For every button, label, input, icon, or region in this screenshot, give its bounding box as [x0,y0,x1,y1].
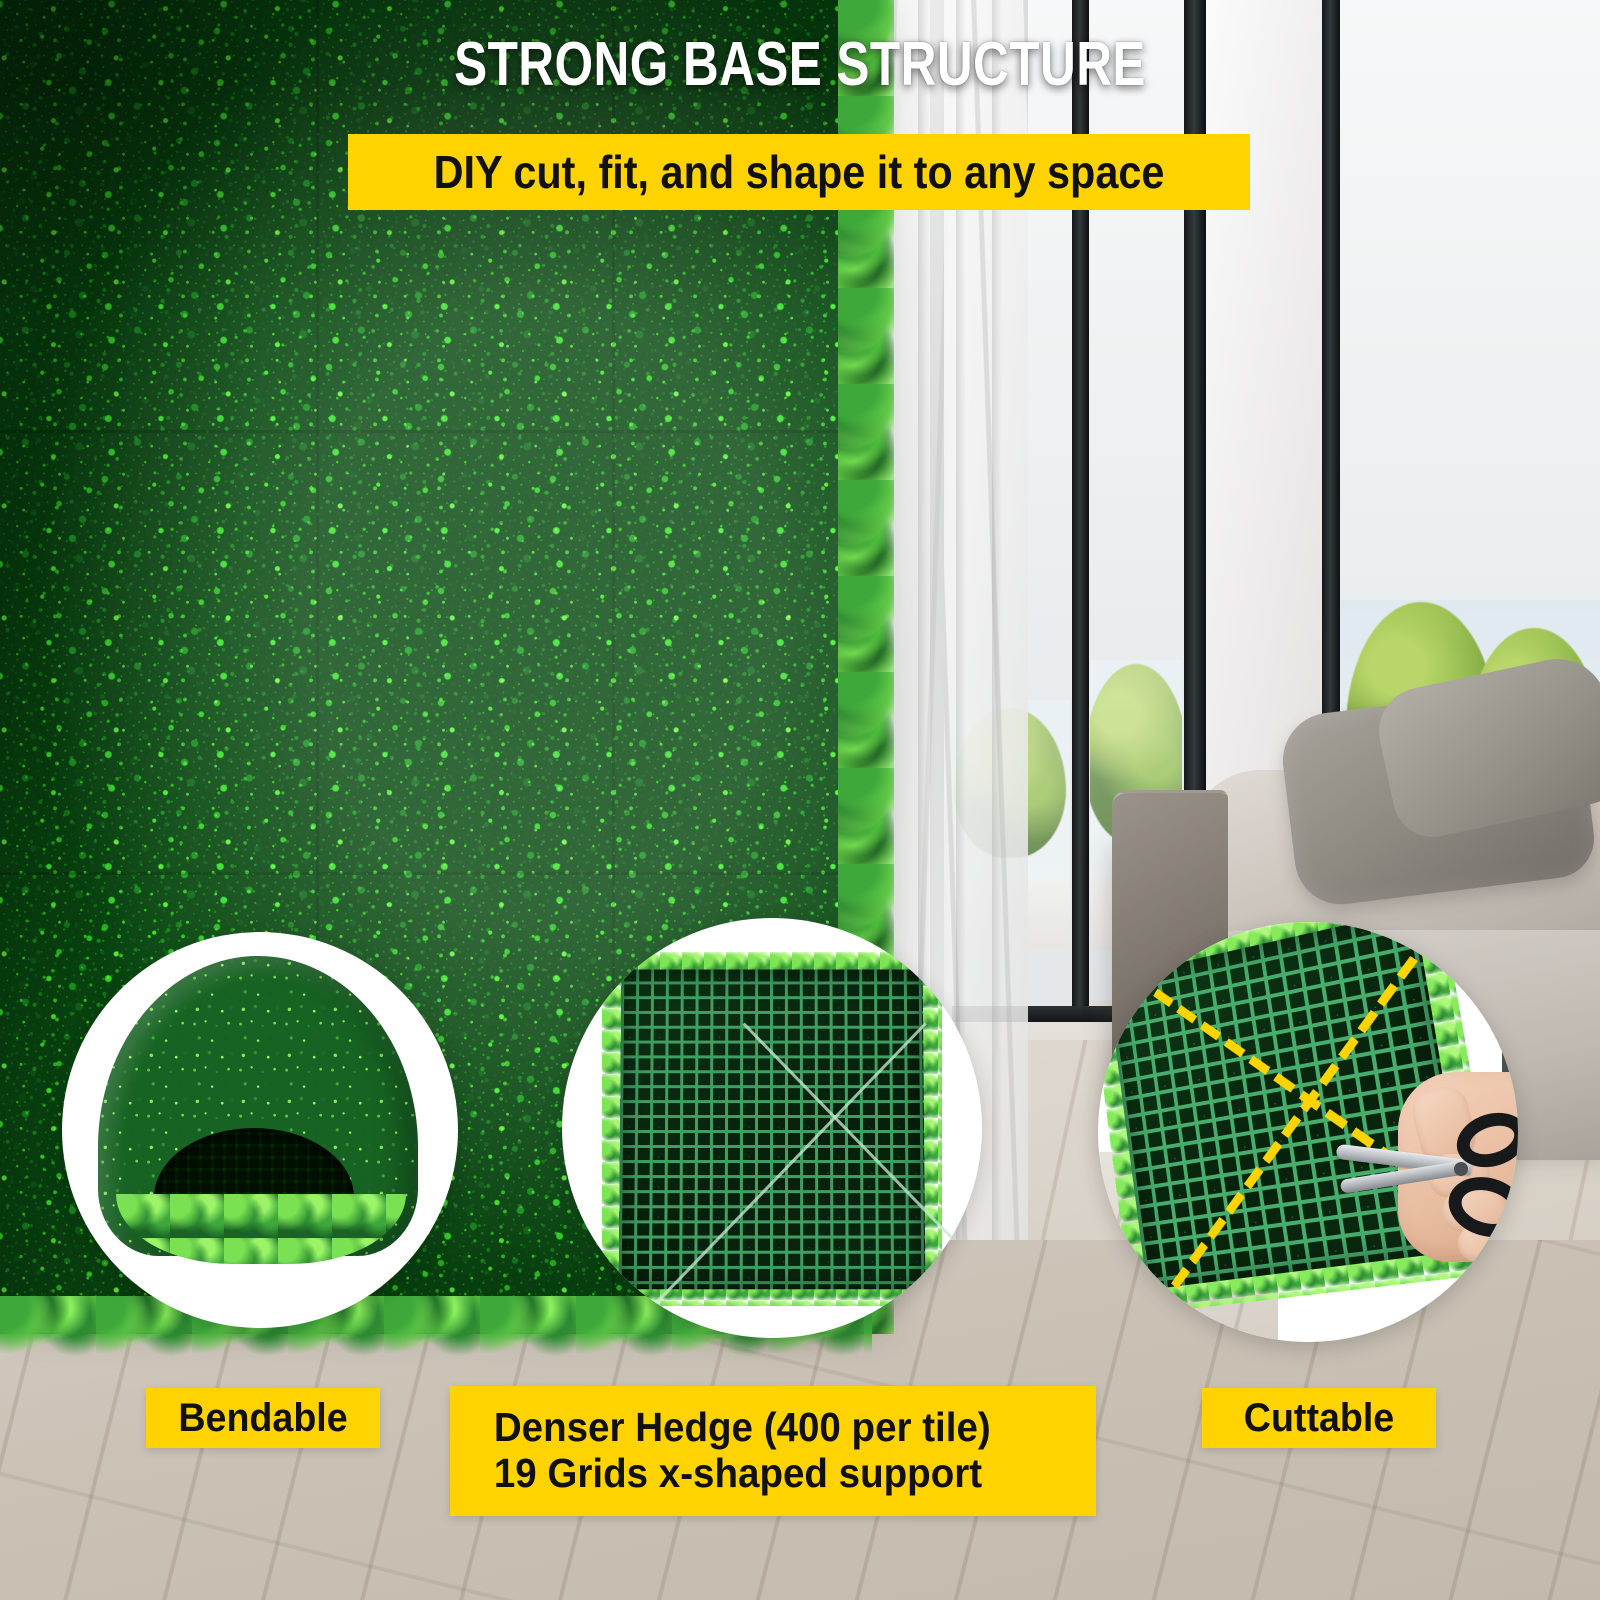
x-shaped-support-bar [625,1023,926,1335]
scissors-cutting-tile-photo [1098,922,1518,1342]
product-infographic: STRONG BASE STRUCTURE DIY cut, fit, and … [0,0,1600,1600]
feature-label-denser-hedge: Denser Hedge (400 per tile) 19 Grids x-s… [450,1386,1096,1516]
tile-back-grid-photo [562,918,982,1338]
bent-hedge-panel-photo [62,932,458,1328]
scissor-pivot [1454,1162,1468,1176]
page-title: STRONG BASE STRUCTURE [160,34,1440,96]
feature-label-line1: Denser Hedge (400 per tile) [494,1405,1052,1451]
scissor-handle [1442,1168,1518,1245]
feature-label-line2: 19 Grids x-shaped support [494,1451,1052,1497]
feature-label-bendable: Bendable [146,1388,380,1448]
scissors-icon [1336,1108,1518,1258]
feature-label-text: Cuttable [1244,1396,1394,1441]
tile-grid-backing [619,970,926,1290]
subtitle-text: DIY cut, fit, and shape it to any space [434,149,1165,195]
feature-label-text: Bendable [178,1396,347,1441]
feature-label-cuttable: Cuttable [1202,1388,1436,1448]
subtitle-banner: DIY cut, fit, and shape it to any space [348,134,1250,210]
